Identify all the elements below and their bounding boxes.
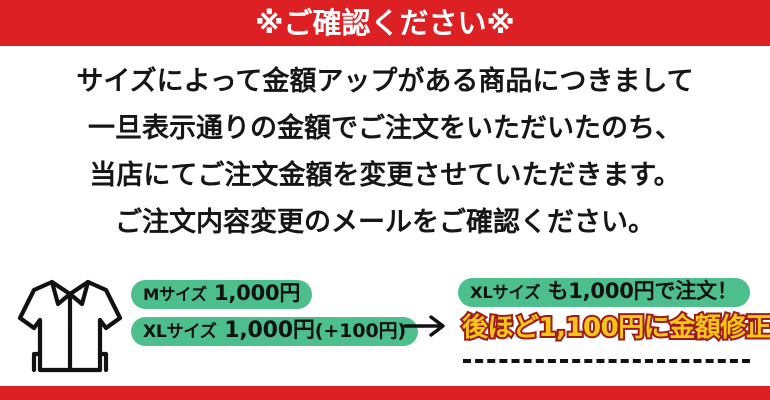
header-bar: ※ご確認ください※ — [0, 0, 770, 46]
price-pill-xl-size: XLサイズ 1,000円(+100円) — [131, 317, 418, 347]
m-size-price: 1,000円 — [214, 281, 300, 305]
message-line-3: 当店にてご注文金額を変更させていただきます。 — [0, 152, 770, 199]
after-price-group: XLサイズ も1,000円で注文！ 後ほど1,100円に金額修正 — [458, 278, 758, 344]
m-size-label: Mサイズ — [143, 285, 207, 304]
xl-size-label: XLサイズ — [143, 322, 217, 342]
before-price-group: Mサイズ 1,000円 XLサイズ 1,000円(+100円) — [131, 280, 391, 346]
footer-bar — [0, 386, 770, 400]
message-line-4: ご注文内容変更のメールをご確認ください。 — [0, 199, 770, 246]
price-comparison-row: Mサイズ 1,000円 XLサイズ 1,000円(+100円) XLサイズ も1… — [0, 270, 770, 380]
page-title: ※ご確認ください※ — [0, 0, 770, 46]
notice-banner: ※ご確認ください※ サイズによって金額アップがある商品につきまして 一旦表示通り… — [0, 0, 770, 400]
message-line-2: 一旦表示通りの金額でご注文をいただいたのち、 — [0, 105, 770, 152]
xl-size-extra: (+100円) — [315, 320, 407, 342]
price-correction-underline — [463, 359, 750, 363]
order-size-label: XLサイズ — [470, 283, 540, 302]
price-pill-m-size: Mサイズ 1,000円 — [131, 280, 312, 309]
order-note-text: も1,000円で注文！ — [547, 279, 737, 303]
message-block: サイズによって金額アップがある商品につきまして 一旦表示通りの金額でご注文をいた… — [0, 58, 770, 246]
right-arrow-icon — [401, 312, 449, 340]
xl-size-price: 1,000円 — [224, 318, 314, 343]
price-correction-note: 後ほど1,100円に金額修正 — [462, 314, 758, 344]
message-line-1: サイズによって金額アップがある商品につきまして — [0, 58, 770, 105]
price-pill-order-note: XLサイズ も1,000円で注文！ — [458, 278, 750, 307]
dress-shirt-icon — [14, 274, 126, 378]
